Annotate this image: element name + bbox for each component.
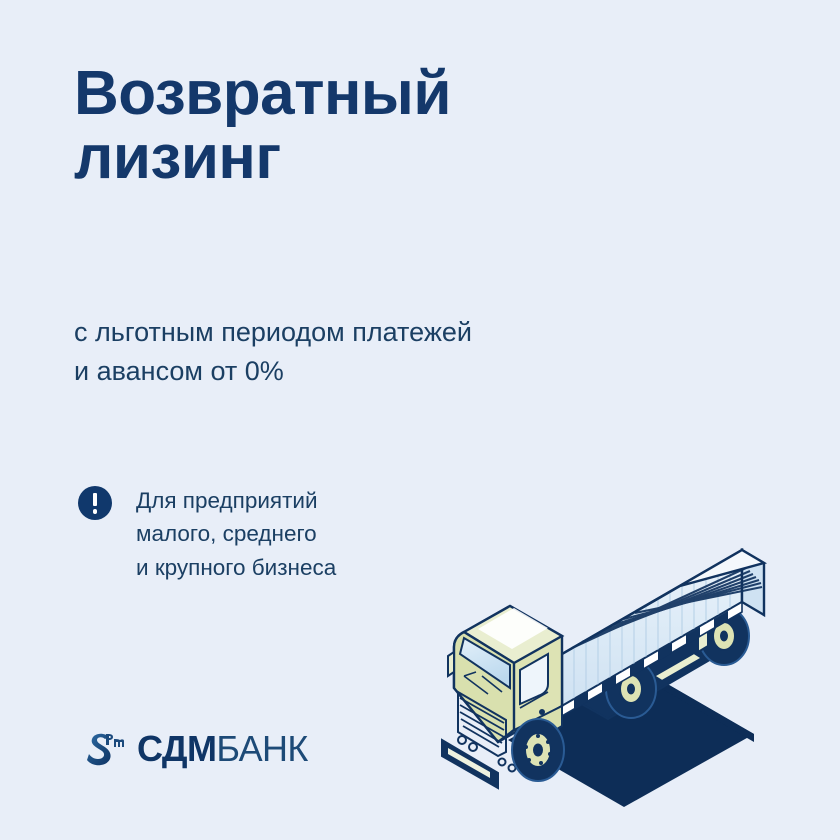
truck-front-wheel: [512, 719, 564, 781]
poster-canvas: Возвратный лизинг с льготным периодом пл…: [0, 0, 840, 840]
isometric-box-truck-illustration: [402, 440, 840, 840]
eligibility-note: Для предприятий малого, среднего и крупн…: [78, 484, 336, 584]
logo-text-bank: БАНК: [216, 728, 307, 769]
logo-text-sdm: СДМ: [137, 728, 216, 769]
exclamation-dot: [93, 509, 98, 514]
page-title: Возвратный лизинг: [74, 62, 714, 190]
eligibility-note-text: Для предприятий малого, среднего и крупн…: [136, 484, 336, 584]
sdm-bank-wordmark: СДМБАНК: [137, 731, 308, 767]
sdm-bank-logo[interactable]: СДМБАНК: [84, 726, 308, 772]
page-subtitle: с льготным периодом платежей и авансом о…: [74, 313, 694, 391]
exclamation-stem: [93, 493, 97, 506]
exclamation-circle-icon: [78, 486, 112, 520]
sdm-monogram-icon: [84, 726, 130, 772]
